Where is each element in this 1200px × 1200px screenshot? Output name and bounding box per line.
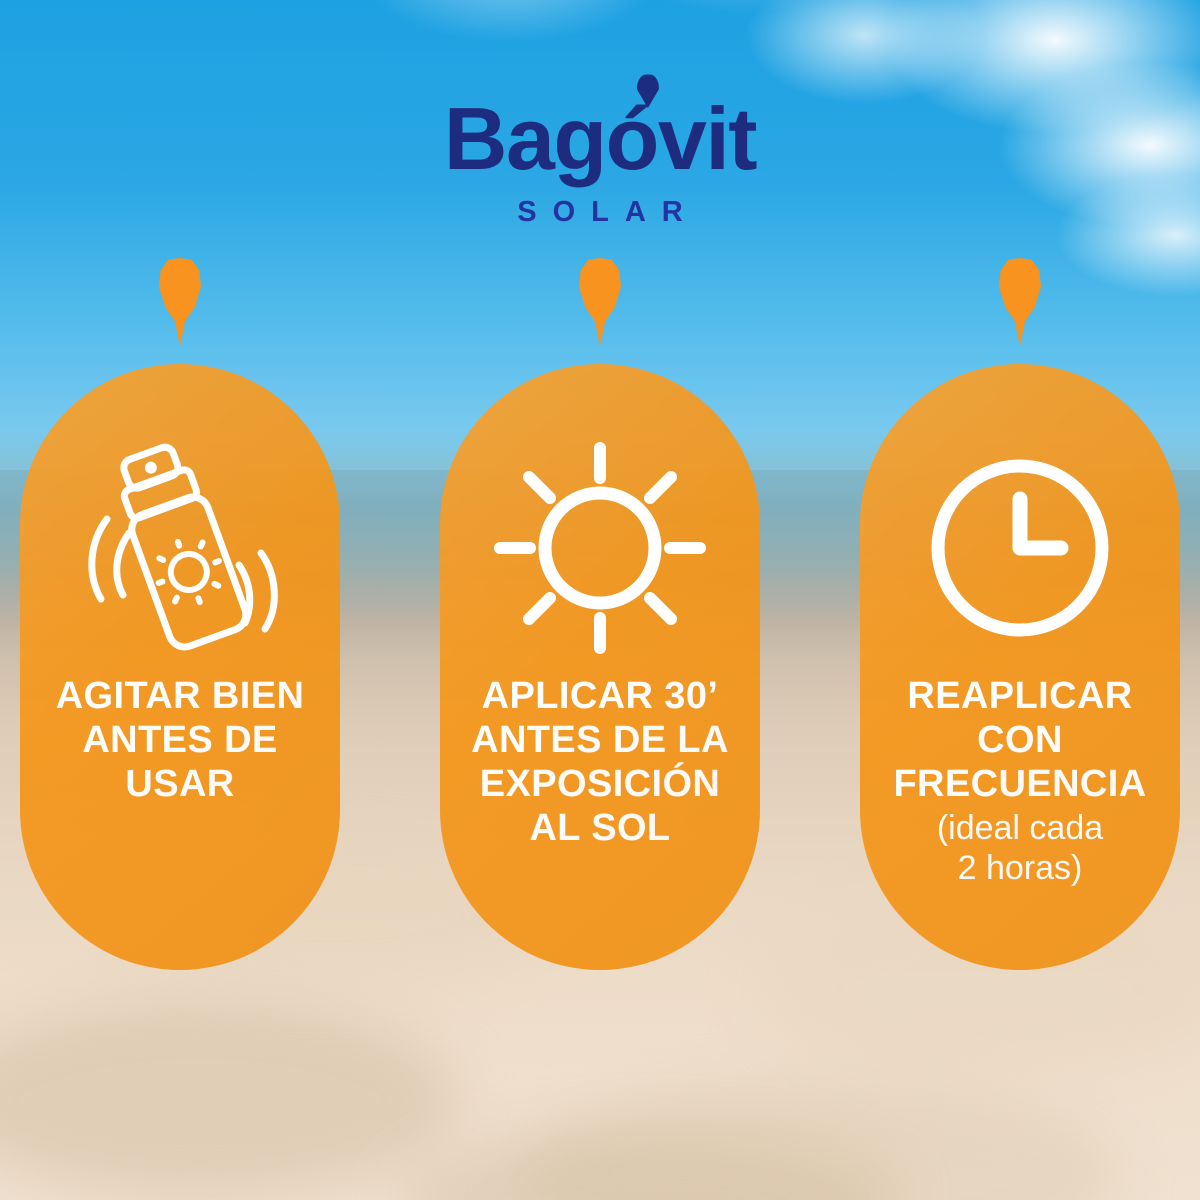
instruction-cards-row: AGITAR BIEN ANTES DE USAR	[0, 258, 1200, 970]
card-title: REAPLICAR CON FRECUENCIA	[881, 674, 1158, 806]
sand-texture	[0, 1000, 460, 1200]
droplet-marker-icon	[999, 258, 1041, 346]
brand-logo: Bagóvit SOLAR	[0, 92, 1200, 229]
card-title: AGITAR BIEN ANTES DE USAR	[44, 674, 317, 806]
instruction-card-agitar: AGITAR BIEN ANTES DE USAR	[20, 258, 340, 970]
poster-canvas: Bagóvit SOLAR	[0, 0, 1200, 1200]
card-body: APLICAR 30’ ANTES DE LA EXPOSICIÓN AL SO…	[440, 364, 760, 970]
card-title: APLICAR 30’ ANTES DE LA EXPOSICIÓN AL SO…	[459, 674, 741, 850]
sand-texture	[400, 1130, 900, 1200]
sun-icon	[492, 440, 708, 656]
brand-name-text: Bagóvit	[444, 89, 756, 188]
clock-icon	[925, 453, 1115, 643]
brand-subtitle: SOLAR	[0, 196, 1200, 229]
brand-name: Bagóvit	[444, 92, 756, 186]
card-body: REAPLICAR CON FRECUENCIA (ideal cada 2 h…	[860, 364, 1180, 970]
cloud-shape	[300, 0, 720, 70]
droplet-marker-icon	[159, 258, 201, 346]
card-body: AGITAR BIEN ANTES DE USAR	[20, 364, 340, 970]
droplet-marker-icon	[579, 258, 621, 346]
cloud-shape	[560, 0, 920, 40]
sunscreen-bottle-shake-icon	[65, 441, 295, 656]
card-icon-area	[440, 422, 760, 674]
card-icon-area	[860, 422, 1180, 674]
instruction-card-aplicar: APLICAR 30’ ANTES DE LA EXPOSICIÓN AL SO…	[440, 258, 760, 970]
card-note: (ideal cada 2 horas)	[925, 808, 1115, 888]
card-icon-area	[20, 422, 340, 674]
instruction-card-reaplicar: REAPLICAR CON FRECUENCIA (ideal cada 2 h…	[860, 258, 1180, 970]
sand-texture	[520, 1080, 1120, 1200]
